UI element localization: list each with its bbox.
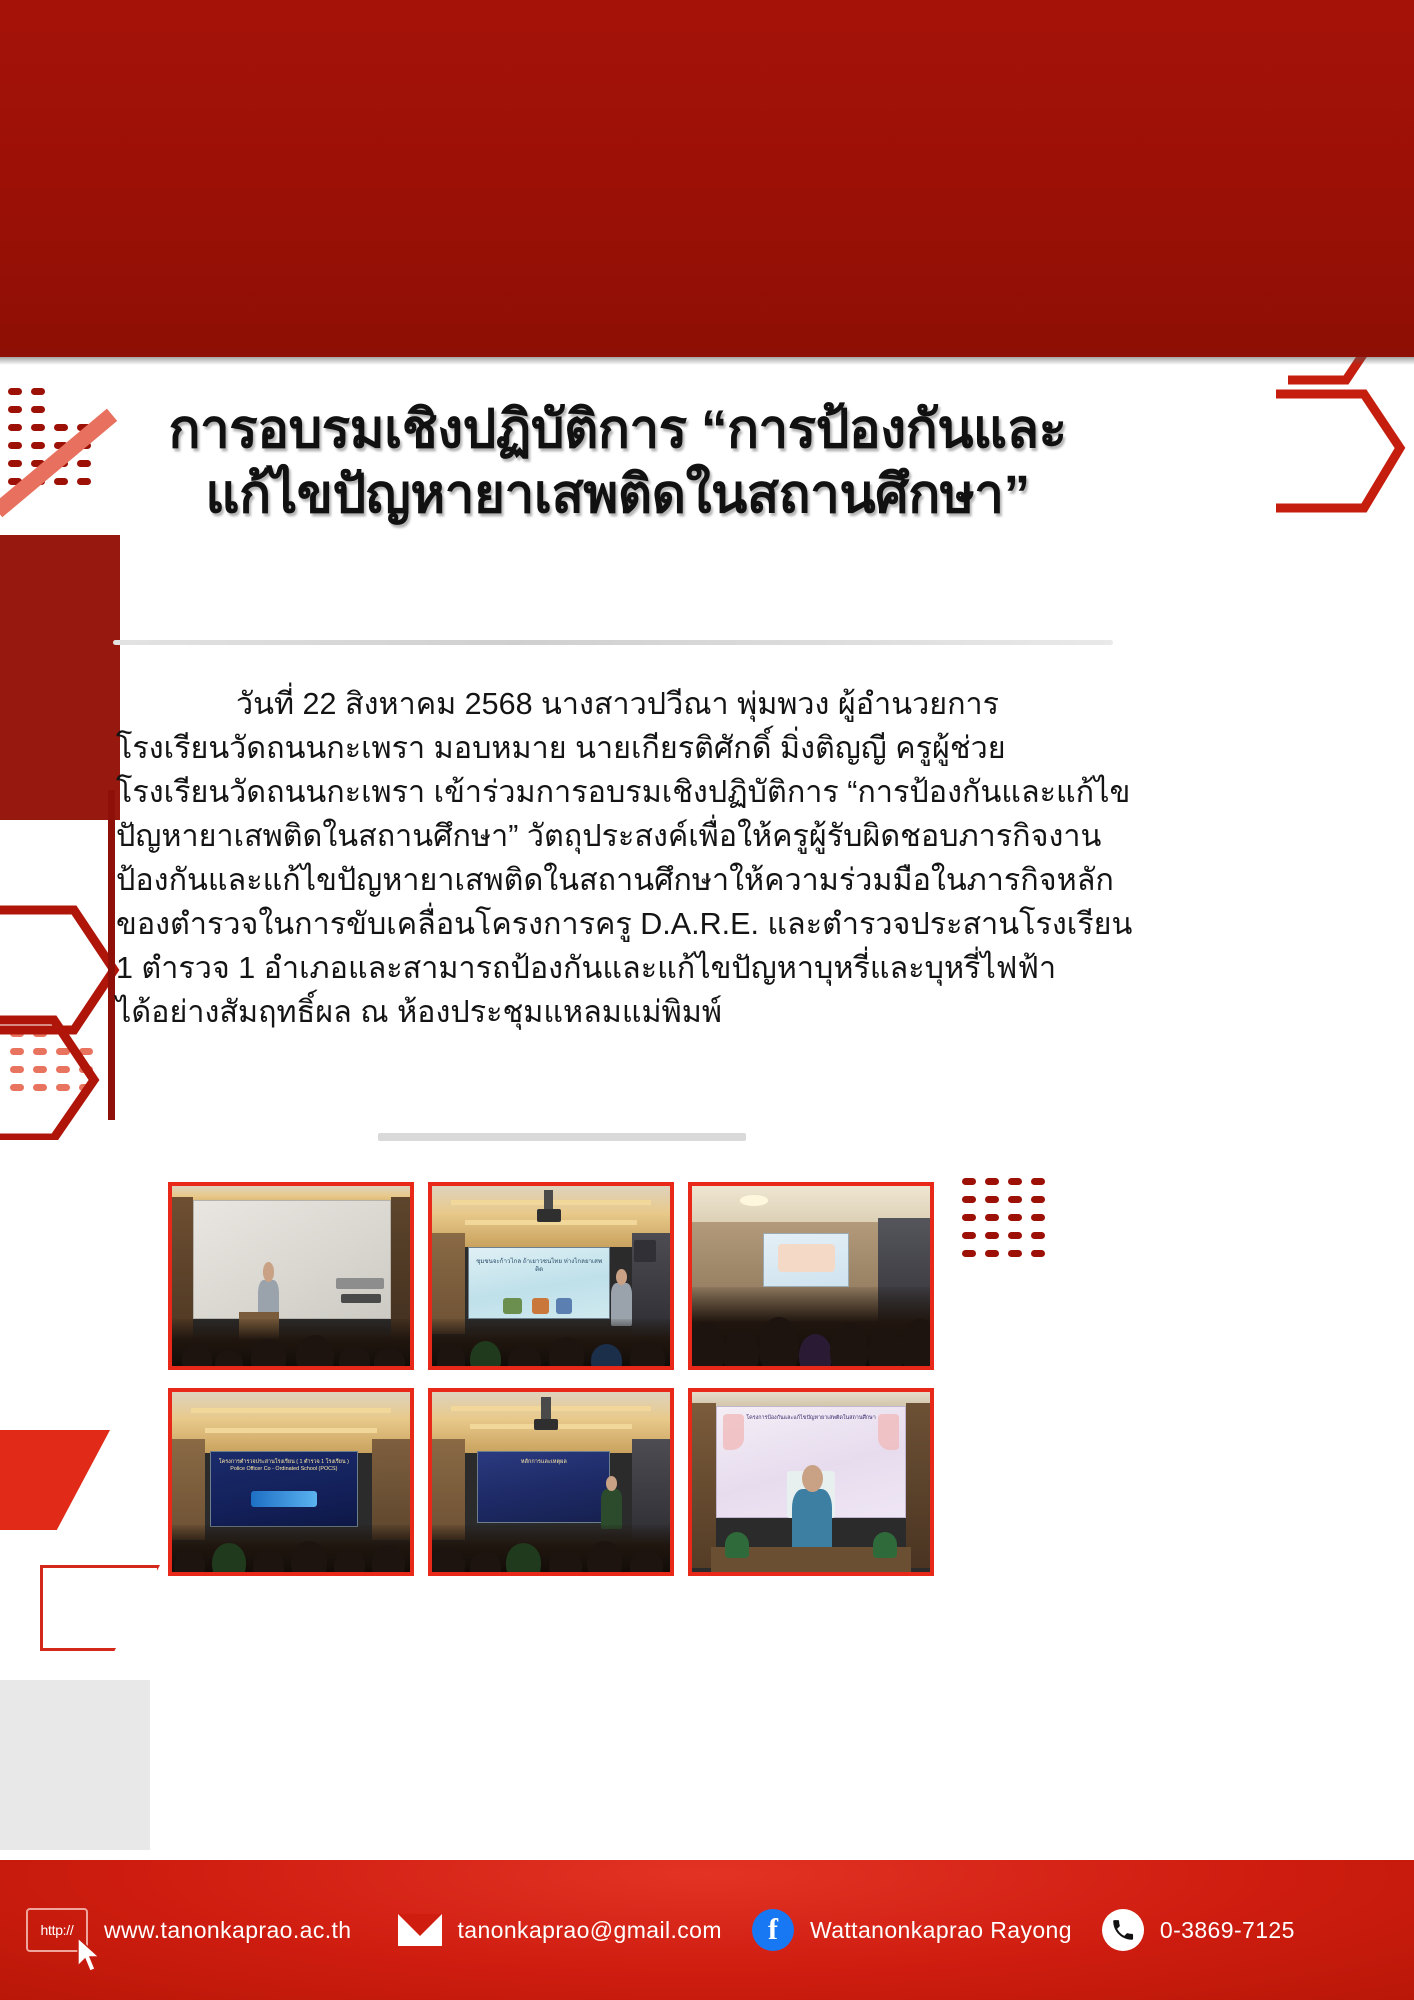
- arrow-decoration-solid: [0, 1430, 110, 1530]
- facebook-icon: f: [752, 1909, 794, 1951]
- gallery-photo[interactable]: หลักการและเหตุผล สไลด์เนื้อหาการอบรม: [428, 1388, 674, 1576]
- email-icon: [398, 1914, 442, 1946]
- photo-scene: หลักการและเหตุผล: [432, 1392, 670, 1572]
- left-red-block-decoration: [0, 535, 120, 820]
- photo-scene: [172, 1186, 410, 1366]
- gallery-photo[interactable]: ผู้เข้าร่วมอบรมในห้องประชุม: [688, 1182, 934, 1370]
- footer-phone-text: 0-3869-7125: [1160, 1917, 1295, 1944]
- body-divider: [378, 1133, 746, 1141]
- left-accent-bar: [108, 790, 115, 1120]
- phone-icon: [1102, 1909, 1144, 1951]
- photo-screen-text: หลักการและเหตุผล: [482, 1459, 606, 1467]
- page-header: [0, 0, 1414, 357]
- body-line: โรงเรียนวัดถนนกะเพรา มอบหมาย นายเกียรติศ…: [116, 726, 1116, 770]
- footer-phone-item[interactable]: 0-3869-7125: [1102, 1909, 1295, 1951]
- photo-gallery: ผู้บรรยายบนเวทีหน้าจอโปรเจกเตอร์ ชุมชนจะ…: [168, 1182, 1246, 1576]
- footer-email-item[interactable]: tanonkaprao@gmail.com: [398, 1914, 722, 1946]
- photo-scene: ชุมชนจะก้าวไกล ถ้าเยาวชนไทย ห่างไกลยาเสพ…: [432, 1186, 670, 1366]
- body-line: วันที่ 22 สิงหาคม 2568 นางสาวปวีณา พุ่มพ…: [116, 682, 1116, 726]
- url-icon-text: http://: [41, 1922, 74, 1938]
- photo-scene: โครงการตำรวจประสานโรงเรียน ( 1 ตำรวจ 1 โ…: [172, 1392, 410, 1572]
- body-line: โรงเรียนวัดถนนกะเพรา เข้าร่วมการอบรมเชิง…: [116, 770, 1116, 814]
- footer-contact-row: http:// www.tanonkaprao.ac.th tanonkapra…: [0, 1908, 1414, 1952]
- footer-facebook-text: Wattanonkaprao Rayong: [810, 1917, 1072, 1944]
- footer-website-text: www.tanonkaprao.ac.th: [104, 1917, 352, 1944]
- title-divider: [113, 640, 1113, 645]
- photo-scene: โครงการป้องกันและแก้ไขปัญหายาเสพติดในสถา…: [692, 1392, 930, 1572]
- body-line: ได้อย่างสัมฤทธิ์ผล ณ ห้องประชุมแหลมแม่พิ…: [116, 990, 1116, 1034]
- arrow-decoration-outline: [40, 1565, 160, 1651]
- body-line: ของตำรวจในการขับเคลื่อนโครงการครู D.A.R.…: [116, 902, 1116, 946]
- photo-screen-text: โครงการป้องกันและแก้ไขปัญหายาเสพติดในสถา…: [730, 1415, 892, 1422]
- photo-screen-text: โครงการตำรวจประสานโรงเรียน ( 1 ตำรวจ 1 โ…: [215, 1459, 353, 1474]
- body-line: ปัญหายาเสพติดในสถานศึกษา” วัตถุประสงค์เพ…: [116, 814, 1116, 858]
- page-footer: http:// www.tanonkaprao.ac.th tanonkapra…: [0, 1860, 1414, 2000]
- gallery-photo[interactable]: ผู้บรรยายบนเวทีหน้าจอโปรเจกเตอร์: [168, 1182, 414, 1370]
- title-line-2: แก้ไขปัญหายาเสพติดในสถานศึกษา”: [110, 463, 1125, 528]
- footer-website-item[interactable]: http:// www.tanonkaprao.ac.th: [26, 1908, 352, 1952]
- title-line-1: การอบรมเชิงปฏิบัติการ “การป้องกันและ: [110, 398, 1125, 463]
- photo-screen-text: ชุมชนจะก้าวไกล ถ้าเยาวชนไทย ห่างไกลยาเสพ…: [472, 1258, 605, 1275]
- gallery-photo[interactable]: โครงการป้องกันและแก้ไขปัญหายาเสพติดในสถา…: [688, 1388, 934, 1576]
- gallery-photo[interactable]: ชุมชนจะก้าวไกล ถ้าเยาวชนไทย ห่างไกลยาเสพ…: [428, 1182, 674, 1370]
- footer-facebook-item[interactable]: f Wattanonkaprao Rayong: [752, 1909, 1072, 1951]
- page-title: การอบรมเชิงปฏิบัติการ “การป้องกันและ แก้…: [110, 398, 1125, 527]
- poster-root: ถพ วิชฺชา ปญฺญาสมา อาภาฯ แสงสว่างเสมอด้ว…: [0, 0, 1414, 2000]
- body-line: 1 ตำรวจ 1 อำเภอและสามารถป้องกันและแก้ไขป…: [116, 946, 1116, 990]
- header-shadow: [0, 357, 1414, 365]
- body-line: ป้องกันและแก้ไขปัญหายาเสพติดในสถานศึกษาใ…: [116, 858, 1116, 902]
- footer-email-text: tanonkaprao@gmail.com: [458, 1917, 722, 1944]
- hexagon-outline-decoration: [0, 900, 124, 1140]
- photo-scene: [692, 1186, 930, 1366]
- url-browser-icon: http://: [26, 1908, 88, 1952]
- gallery-photo[interactable]: โครงการตำรวจประสานโรงเรียน ( 1 ตำรวจ 1 โ…: [168, 1388, 414, 1576]
- bottom-left-block-decoration: [0, 1680, 150, 1850]
- article-body: วันที่ 22 สิงหาคม 2568 นางสาวปวีณา พุ่มพ…: [116, 682, 1116, 1035]
- mouse-cursor-icon: [76, 1936, 102, 1974]
